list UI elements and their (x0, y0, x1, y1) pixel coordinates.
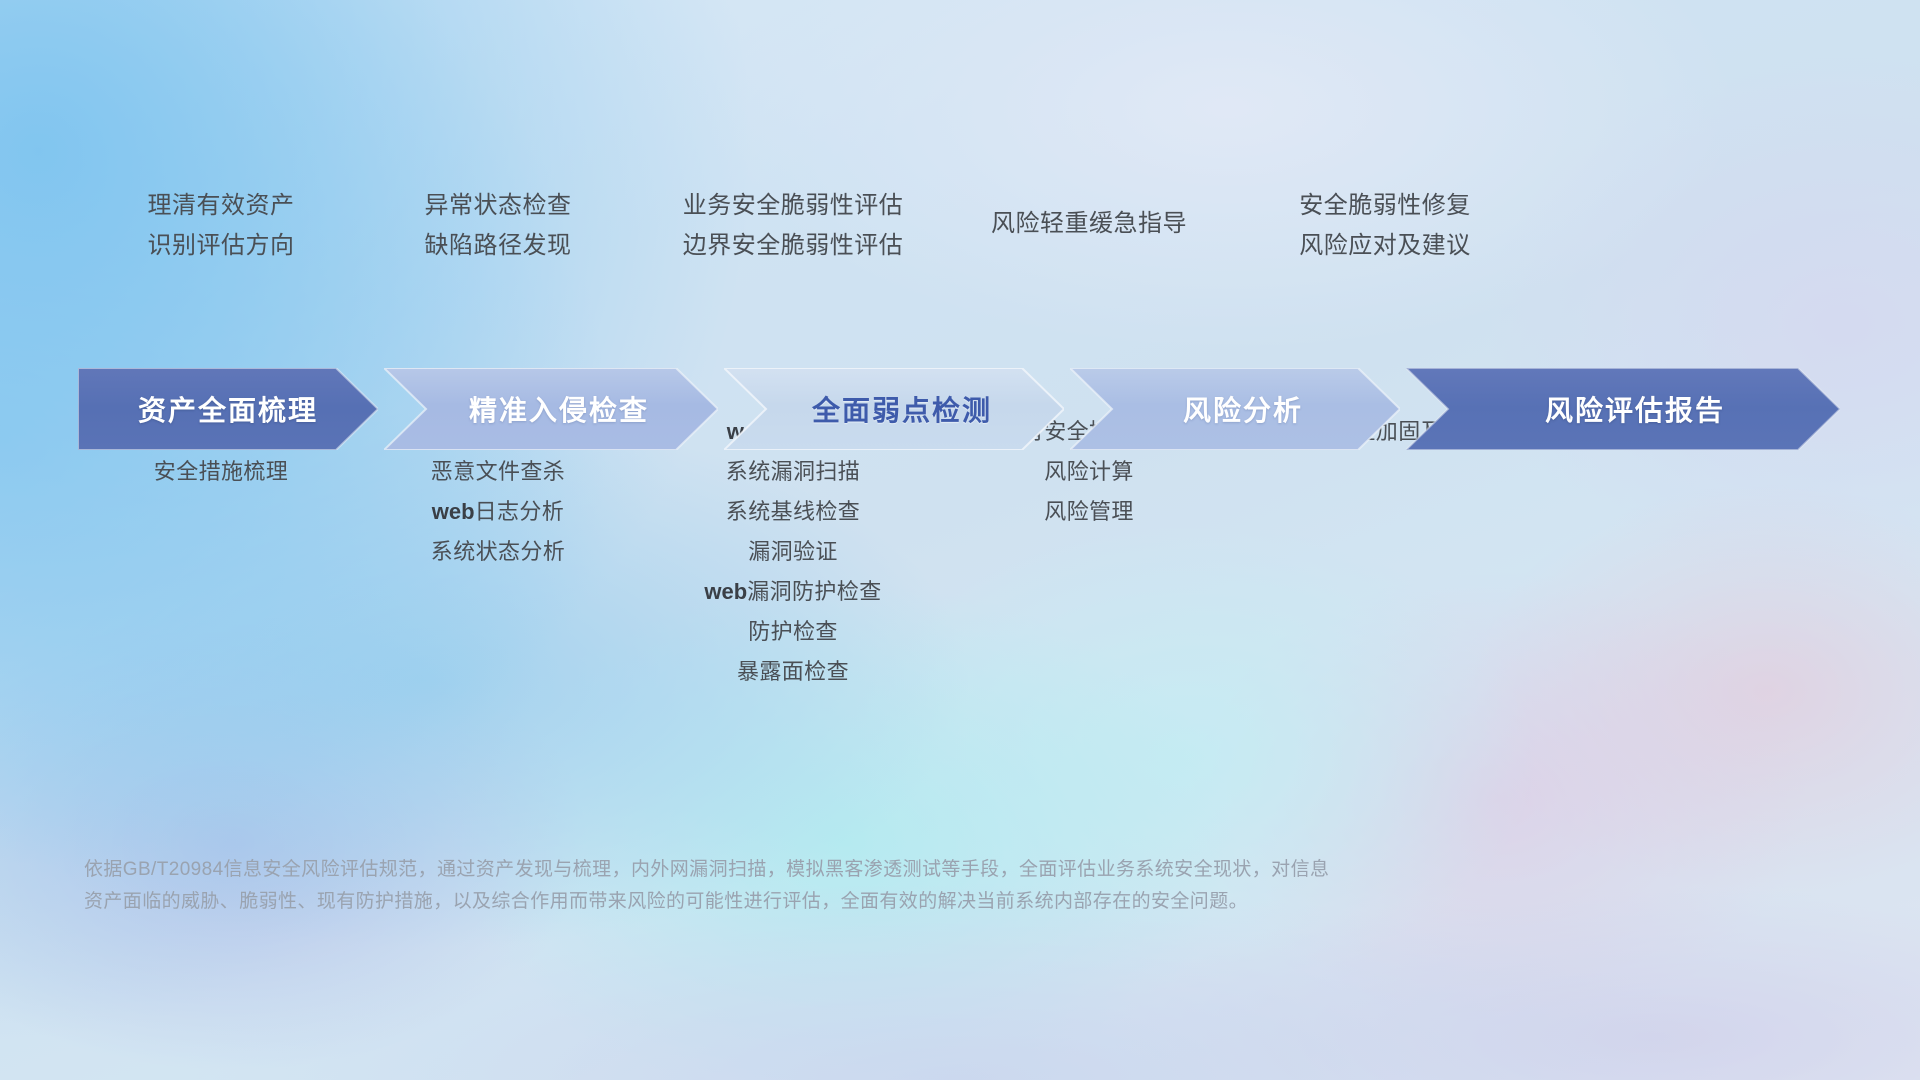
top-label: 异常状态检查 (354, 186, 642, 226)
top-label: 安全脆弱性修复 (1238, 186, 1532, 226)
list-item: 防护检查 (646, 612, 940, 652)
top-label: 业务安全脆弱性评估 (646, 186, 940, 226)
list-item: 系统基线检查 (646, 492, 940, 532)
top-labels-row: 理清有效资产 识别评估方向 异常状态检查 缺陷路径发现 业务安全脆弱性评估 边界… (78, 186, 1826, 266)
chevron-label-1: 资产全面梳理 (138, 389, 318, 429)
chevron-stage-2[interactable]: 精准入侵检查 (384, 368, 718, 450)
items-stage-5: 安全风险加固及建议 (1240, 412, 1534, 692)
list-item: web漏洞防护检查 (646, 572, 940, 612)
footer-line-2: 资产面临的威胁、脆弱性、现有防护措施，以及综合作用而带来风险的可能性进行评估，全… (84, 886, 1704, 918)
chevron-stage-1[interactable]: 资产全面梳理 (78, 368, 378, 450)
list-item: 漏洞验证 (646, 532, 940, 572)
top-labels-stage-1: 理清有效资产 识别评估方向 (80, 186, 362, 266)
footer-description: 依据GB/T20984信息安全风险评估规范，通过资产发现与梳理，内外网漏洞扫描，… (84, 854, 1704, 918)
list-item: web日志分析 (354, 492, 642, 532)
items-stage-3: web安全扫描 系统漏洞扫描 系统基线检查 漏洞验证 web漏洞防护检查 防护检… (646, 412, 940, 692)
list-item: 系统漏洞扫描 (646, 452, 940, 492)
items-stage-1: 业务系统梳理 安全措施梳理 (80, 412, 362, 692)
infographic-page: 理清有效资产 识别评估方向 异常状态检查 缺陷路径发现 业务安全脆弱性评估 边界… (0, 0, 1920, 1080)
list-item: 风险计算 (944, 452, 1234, 492)
list-item: 安全措施梳理 (80, 452, 362, 492)
list-item: 恶意文件查杀 (354, 452, 642, 492)
chevron-label-5: 风险评估报告 (1545, 389, 1725, 429)
top-label: 理清有效资产 (80, 186, 362, 226)
chevron-label-3: 全面弱点检测 (812, 389, 992, 429)
chevron-label-2: 精准入侵检查 (469, 389, 649, 429)
chevron-stage-5[interactable]: 风险评估报告 (1406, 368, 1840, 450)
top-label: 边界安全脆弱性评估 (646, 226, 940, 266)
top-label: 风险应对及建议 (1238, 226, 1532, 266)
top-labels-stage-5: 安全脆弱性修复 风险应对及建议 (1238, 186, 1532, 266)
chevron-stage-3[interactable]: 全面弱点检测 (724, 368, 1064, 450)
top-labels-stage-4: 风险轻重缓急指导 (944, 186, 1234, 266)
top-labels-stage-3: 业务安全脆弱性评估 边界安全脆弱性评估 (646, 186, 940, 266)
top-label: 风险轻重缓急指导 (944, 204, 1234, 244)
footer-line-1: 依据GB/T20984信息安全风险评估规范，通过资产发现与梳理，内外网漏洞扫描，… (84, 854, 1704, 886)
items-stage-4: 已有安全控制措施 风险计算 风险管理 (944, 412, 1234, 692)
chevron-stage-4[interactable]: 风险分析 (1070, 368, 1400, 450)
top-label: 缺陷路径发现 (354, 226, 642, 266)
top-label: 识别评估方向 (80, 226, 362, 266)
process-chevron-banner: 资产全面梳理 精准入侵检查 (78, 368, 1840, 450)
list-item: 风险管理 (944, 492, 1234, 532)
chevron-label-4: 风险分析 (1183, 389, 1303, 429)
top-labels-stage-2: 异常状态检查 缺陷路径发现 (354, 186, 642, 266)
list-item: 暴露面检查 (646, 652, 940, 692)
bottom-items-row: 业务系统梳理 安全措施梳理 webshell检查 恶意文件查杀 web日志分析 … (78, 412, 1826, 692)
items-stage-2: webshell检查 恶意文件查杀 web日志分析 系统状态分析 (354, 412, 642, 692)
list-item: 系统状态分析 (354, 532, 642, 572)
